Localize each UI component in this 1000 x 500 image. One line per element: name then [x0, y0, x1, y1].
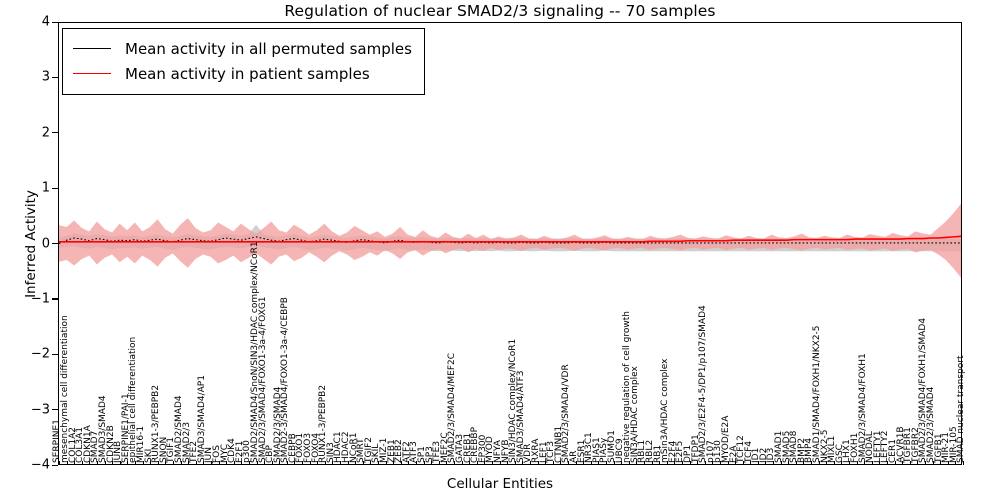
legend-item-patient[interactable]: Mean activity in patient samples [73, 61, 412, 86]
x-axis-label: Cellular Entities [0, 476, 1000, 492]
x-tick-mark [963, 461, 964, 465]
chart-title: Regulation of nuclear SMAD2/3 signaling … [0, 2, 1000, 20]
series-band-1 [59, 204, 961, 278]
chart-root: Regulation of nuclear SMAD2/3 signaling … [0, 0, 1000, 500]
legend-item-permuted[interactable]: Mean activity in all permuted samples [73, 36, 412, 61]
y-tick-label: 1 [42, 181, 50, 196]
y-tick-label: 3 [42, 70, 50, 85]
y-tick-label: 0 [42, 236, 50, 251]
legend-swatch-patient [73, 73, 111, 74]
legend-label-permuted: Mean activity in all permuted samples [125, 40, 412, 58]
y-axis: −4−3−2−101234 [0, 22, 58, 465]
y-tick-label: −1 [31, 291, 50, 306]
legend-label-patient: Mean activity in patient samples [125, 65, 370, 83]
y-tick-label: 2 [42, 125, 50, 140]
y-tick-label: −3 [31, 402, 50, 417]
y-tick-label: 4 [42, 15, 50, 30]
legend-swatch-permuted [73, 48, 111, 49]
y-tick-label: −4 [31, 458, 50, 473]
chart-legend: Mean activity in all permuted samples Me… [62, 28, 425, 95]
y-tick-label: −2 [31, 347, 50, 362]
